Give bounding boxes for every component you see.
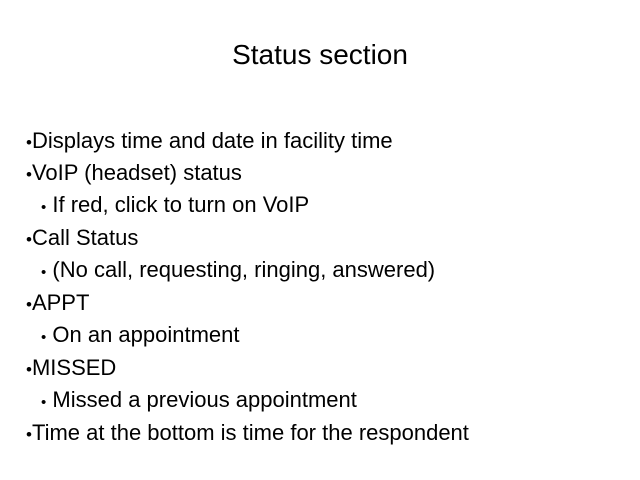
list-item: •MISSED [26, 353, 626, 385]
list-item: •On an appointment [26, 320, 626, 353]
list-item: •Missed a previous appointment [26, 385, 626, 418]
slide-canvas: Status section •Displays time and date i… [0, 0, 640, 480]
list-item-label: Displays time and date in facility time [32, 128, 393, 153]
list-item-label: Missed a previous appointment [46, 387, 357, 412]
list-item: •APPT [26, 288, 626, 320]
list-item: •Call Status [26, 223, 626, 255]
list-item: •Time at the bottom is time for the resp… [26, 418, 626, 450]
list-item: •(No call, requesting, ringing, answered… [26, 255, 626, 288]
bullet-list: •Displays time and date in facility time… [26, 126, 626, 450]
list-item: •If red, click to turn on VoIP [26, 190, 626, 223]
list-item-label: (No call, requesting, ringing, answered) [46, 257, 435, 282]
list-item: •Displays time and date in facility time [26, 126, 626, 158]
list-item-label: MISSED [32, 355, 116, 380]
list-item-label: On an appointment [46, 322, 239, 347]
list-item-label: If red, click to turn on VoIP [46, 192, 309, 217]
list-item-label: VoIP (headset) status [32, 160, 242, 185]
page-title: Status section [0, 38, 640, 72]
list-item-label: APPT [32, 290, 89, 315]
list-item: •VoIP (headset) status [26, 158, 626, 190]
list-item-label: Time at the bottom is time for the respo… [32, 420, 469, 445]
list-item-label: Call Status [32, 225, 138, 250]
